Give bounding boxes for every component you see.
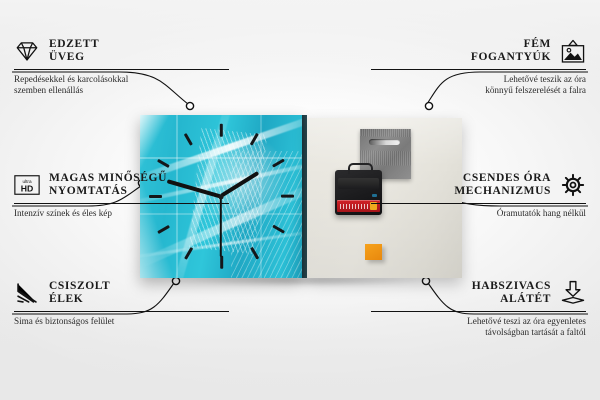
- polished-edges-icon: [14, 280, 40, 306]
- ultra-hd-icon: ultra HD: [14, 172, 40, 198]
- callout-subtitle: Lehetővé teszi az óra egyenletes távolsá…: [371, 316, 586, 339]
- glass-reflection: [260, 115, 262, 278]
- clock-tick: [220, 256, 223, 269]
- callout-header: ultra HD MAGAS MINŐSÉGŰ NYOMTATÁS: [14, 172, 229, 198]
- callout-divider: [14, 69, 229, 70]
- callout-header: HABSZIVACS ALÁTÉT: [371, 280, 586, 306]
- callout-polished-edges: CSISZOLT ÉLEK Sima és biztonságos felüle…: [14, 280, 229, 327]
- ultra-hd-large-text: HD: [21, 184, 34, 194]
- callout-high-quality-print: ultra HD MAGAS MINŐSÉGŰ NYOMTATÁS Intenz…: [14, 172, 229, 219]
- callout-header: FÉM FOGANTYÚK: [371, 38, 586, 64]
- callout-foam-pad: HABSZIVACS ALÁTÉT Lehetővé teszi az óra …: [371, 280, 586, 339]
- callout-metal-handles: FÉM FOGANTYÚK Lehetővé teszik az óra kön…: [371, 38, 586, 97]
- mechanism-label-text: [340, 204, 368, 209]
- foam-pad-icon: [560, 280, 586, 306]
- gear-icon: [560, 172, 586, 198]
- callout-title: EDZETT ÜVEG: [49, 38, 99, 63]
- callout-tempered-glass: EDZETT ÜVEG Repedésekkel és karcolásokka…: [14, 38, 229, 97]
- callout-title: CSENDES ÓRA MECHANIZMUS: [454, 172, 551, 197]
- callout-title: HABSZIVACS ALÁTÉT: [472, 280, 551, 305]
- wire-dot-metal-handles: [425, 102, 432, 109]
- infographic-canvas: EDZETT ÜVEG Repedésekkel és karcolásokka…: [0, 0, 600, 400]
- callout-divider: [14, 203, 229, 204]
- clock-tick: [281, 195, 294, 198]
- clock-tick: [184, 133, 193, 146]
- hanger-slot: [369, 139, 400, 145]
- callout-subtitle: Lehetővé teszik az óra könnyű felszerelé…: [371, 74, 586, 97]
- wire-dot-tempered-glass: [186, 102, 193, 109]
- callout-silent-mechanism: CSENDES ÓRA MECHANIZMUS Óramutatók hang …: [371, 172, 586, 219]
- callout-header: EDZETT ÜVEG: [14, 38, 229, 64]
- glass-reflection: [140, 157, 302, 159]
- clock-tick: [220, 124, 223, 137]
- callout-title: MAGAS MINŐSÉGŰ NYOMTATÁS: [49, 172, 167, 197]
- callout-divider: [371, 69, 586, 70]
- mechanism-hook: [348, 163, 373, 174]
- callout-subtitle: Repedésekkel és karcolásokkal szemben el…: [14, 74, 229, 97]
- callout-subtitle: Óramutatók hang nélkül: [371, 208, 586, 219]
- callout-divider: [371, 203, 586, 204]
- callout-header: CSENDES ÓRA MECHANIZMUS: [371, 172, 586, 198]
- callout-divider: [14, 311, 229, 312]
- callout-header: CSISZOLT ÉLEK: [14, 280, 229, 306]
- foam-pad-part: [365, 244, 382, 260]
- clock-tick: [158, 225, 171, 234]
- callout-divider: [371, 311, 586, 312]
- callout-title: CSISZOLT ÉLEK: [49, 280, 110, 305]
- picture-hanger-icon: [560, 38, 586, 64]
- callout-subtitle: Sima és biztonságos felület: [14, 316, 229, 327]
- diamond-icon: [14, 38, 40, 64]
- callout-title: FÉM FOGANTYÚK: [471, 38, 551, 63]
- callout-subtitle: Intenzív színek és éles kép: [14, 208, 229, 219]
